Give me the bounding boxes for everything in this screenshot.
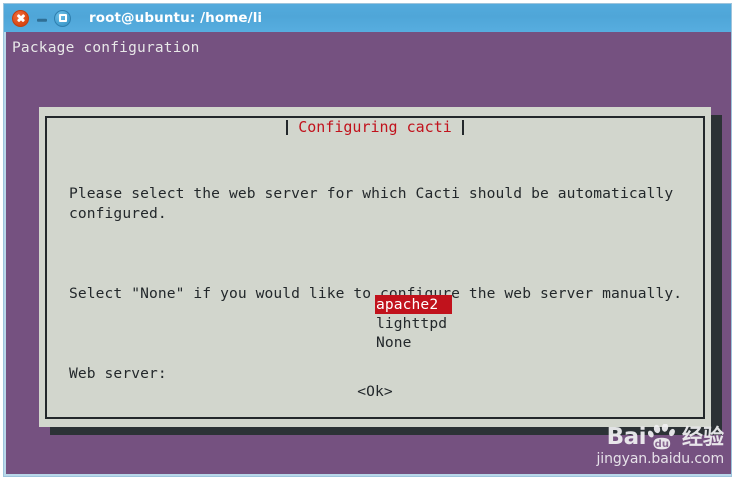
dialog-title: Configuring cacti bbox=[288, 120, 462, 135]
paw-print-icon: du bbox=[648, 424, 678, 450]
choice-none[interactable]: None bbox=[375, 333, 452, 352]
dialog-paragraph-3: Web server: bbox=[69, 364, 689, 384]
dialog-inner-frame: Configuring cacti Please select the web … bbox=[45, 116, 705, 419]
terminal-screen[interactable]: Package configuration Configuring cacti … bbox=[6, 32, 731, 474]
baidu-wordmark: Bai bbox=[607, 426, 646, 449]
baidu-jingyan-watermark: Bai du 经验 jingyan.baidu.com bbox=[564, 424, 724, 468]
ok-button[interactable]: <Ok> bbox=[357, 383, 393, 400]
maximize-icon[interactable] bbox=[54, 10, 71, 27]
dialog-title-bar: Configuring cacti bbox=[47, 120, 703, 135]
screenshot-root: root@ubuntu: /home/li Package configurat… bbox=[0, 0, 735, 481]
web-server-choice-list[interactable]: apache2 lighttpd None bbox=[375, 295, 452, 352]
dialog-body-text: Please select the web server for which C… bbox=[69, 144, 689, 424]
choice-lighttpd[interactable]: lighttpd bbox=[375, 314, 452, 333]
choice-apache2[interactable]: apache2 bbox=[375, 295, 452, 314]
close-icon[interactable] bbox=[12, 10, 29, 27]
minimize-icon[interactable] bbox=[33, 10, 50, 27]
package-configuration-header: Package configuration bbox=[12, 40, 200, 56]
window-title: root@ubuntu: /home/li bbox=[89, 10, 262, 26]
dialog-title-separator-right bbox=[462, 120, 464, 135]
terminal-window: root@ubuntu: /home/li Package configurat… bbox=[3, 3, 732, 477]
dialog-button-row: <Ok> bbox=[47, 383, 703, 400]
watermark-url: jingyan.baidu.com bbox=[564, 451, 724, 468]
window-titlebar[interactable]: root@ubuntu: /home/li bbox=[4, 4, 731, 32]
baidu-logo: Bai du 经验 bbox=[564, 424, 724, 450]
svg-text:du: du bbox=[655, 439, 669, 450]
dialog-paragraph-1: Please select the web server for which C… bbox=[69, 184, 689, 224]
dialog-title-separator-left bbox=[286, 120, 288, 135]
baidu-chinese-wordmark: 经验 bbox=[682, 427, 724, 448]
configuring-cacti-dialog: Configuring cacti Please select the web … bbox=[39, 107, 711, 427]
